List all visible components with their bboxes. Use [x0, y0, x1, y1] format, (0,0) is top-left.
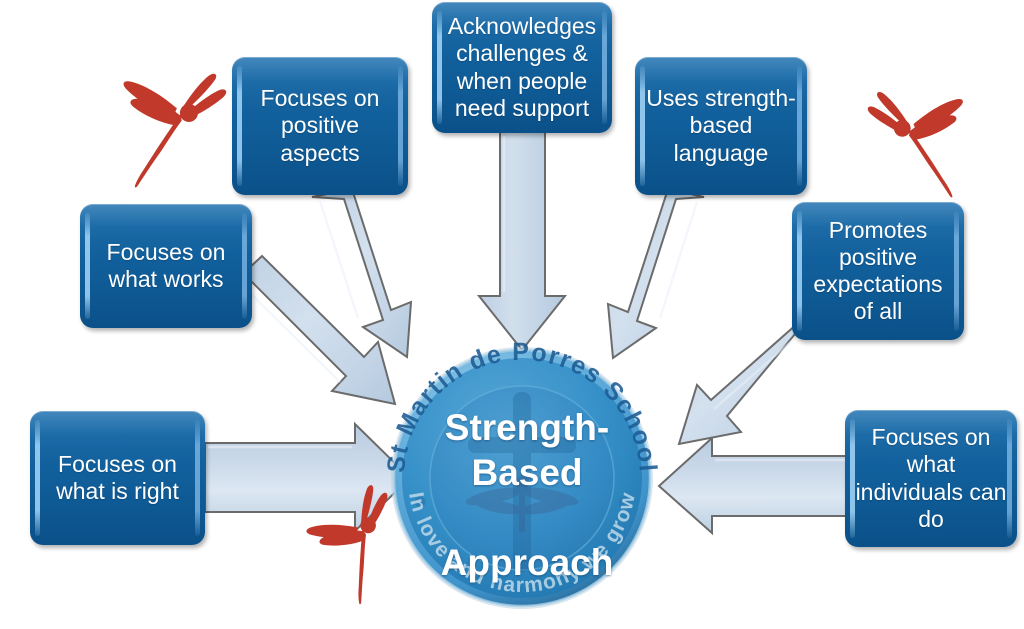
node-acknowledges-challenges[interactable]: Acknowledges challenges & when people ne…: [432, 2, 612, 133]
node-focuses-on-what-individuals-can-do[interactable]: Focuses on what individuals can do: [845, 410, 1017, 547]
node-focuses-on-positive-aspects[interactable]: Focuses on positive aspects: [232, 57, 408, 195]
node-uses-strength-based-language[interactable]: Uses strength- based language: [635, 57, 807, 195]
node-label: Focuses on positive aspects: [232, 57, 408, 195]
diagram-canvas: St Martin de Porres School In love and h…: [0, 0, 1024, 629]
node-label: Focuses on what is right: [30, 411, 205, 545]
node-label: Promotes positive expectations of all: [792, 202, 964, 340]
node-promotes-positive-expectations[interactable]: Promotes positive expectations of all: [792, 202, 964, 340]
node-focuses-on-what-works[interactable]: Focuses on what works: [80, 204, 252, 328]
node-focuses-on-what-is-right[interactable]: Focuses on what is right: [30, 411, 205, 545]
node-label: Focuses on what works: [80, 204, 252, 328]
node-label: Focuses on what individuals can do: [845, 410, 1017, 547]
node-label: Acknowledges challenges & when people ne…: [432, 2, 612, 133]
node-label: Uses strength- based language: [635, 57, 807, 195]
